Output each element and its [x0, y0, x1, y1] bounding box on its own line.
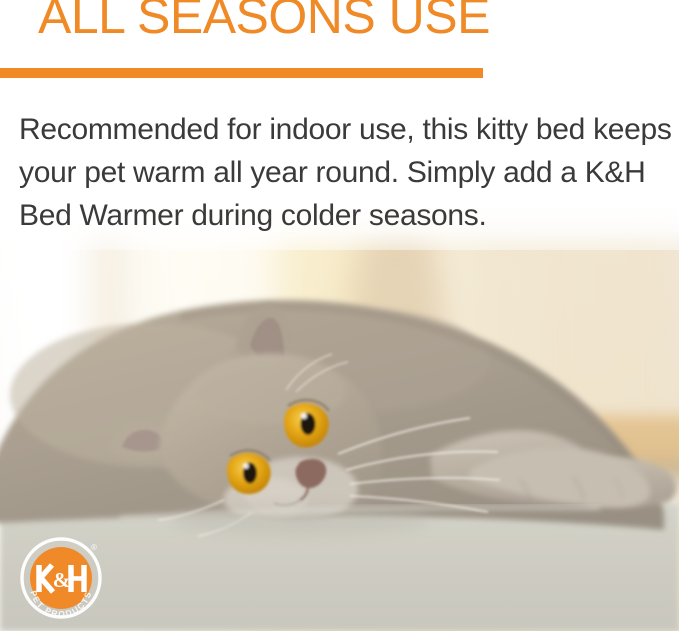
- registered-trademark-icon: ®: [91, 543, 97, 552]
- description-text: Recommended for indoor use, this kitty b…: [19, 108, 674, 237]
- page-title: ALL SEASONS USE: [38, 0, 490, 45]
- title-divider: [0, 68, 483, 78]
- header-zone: ALL SEASONS USE Recommended for indoor u…: [0, 0, 679, 245]
- product-feature-banner: ALL SEASONS USE Recommended for indoor u…: [0, 0, 679, 631]
- kh-pet-products-logo: & ® PET PRODUCTS: [15, 534, 107, 626]
